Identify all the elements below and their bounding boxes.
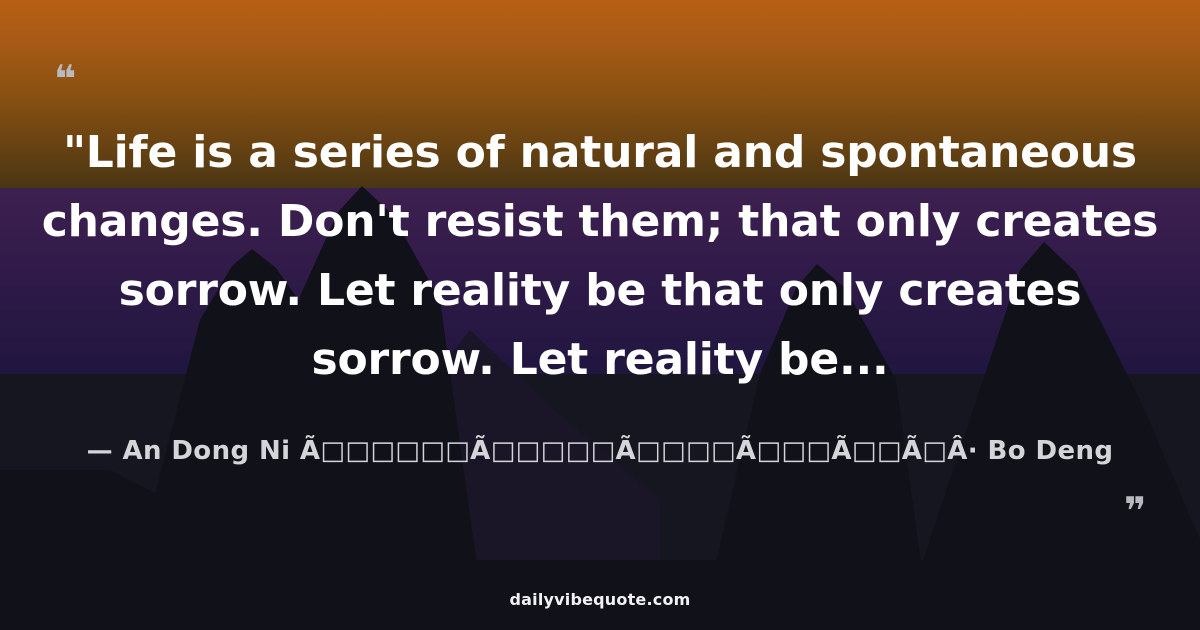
- card-content: ❝ "Life is a series of natural and spont…: [0, 0, 1200, 630]
- quote-card: ❝ "Life is a series of natural and spont…: [0, 0, 1200, 630]
- footer-site-url[interactable]: dailyvibequote.com: [0, 590, 1200, 609]
- quote-text: "Life is a series of natural and spontan…: [30, 118, 1170, 394]
- quote-close-mark-icon: ❞: [1124, 492, 1148, 530]
- quote-attribution: — An Dong Ni Ã□□□□□□Ã□□□□□Ã□□□□Ã□□□Ã□□Ã□…: [30, 436, 1170, 466]
- quote-open-mark-icon: ❝: [54, 60, 78, 98]
